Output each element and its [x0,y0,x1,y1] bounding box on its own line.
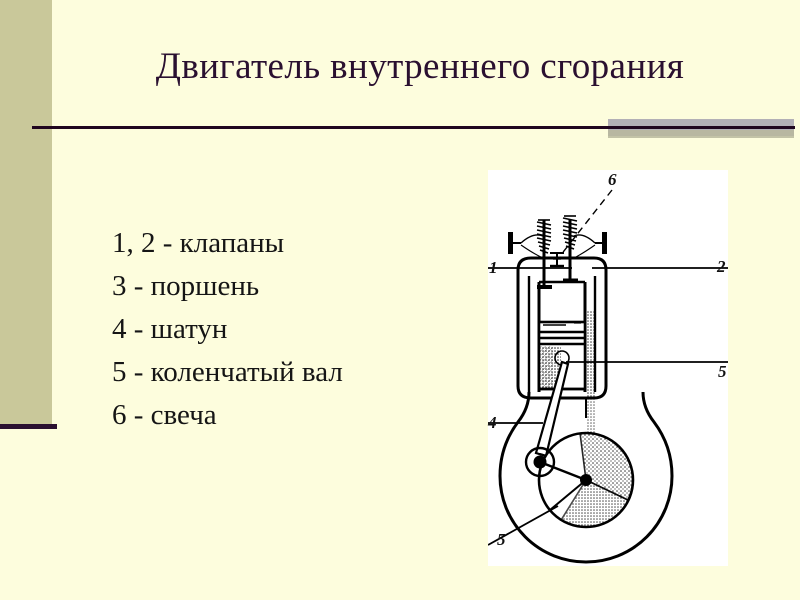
engine-diagram-panel [488,170,728,566]
callout-label-6: 6 [608,170,617,190]
slide-canvas: Двигатель внутреннего сгорания 1, 2 - кл… [0,0,800,600]
crankshaft [526,433,633,533]
valve-left [537,220,552,287]
valve-right [563,216,578,280]
callout-label-4: 4 [488,413,497,433]
callout-label-1: 1 [489,258,498,278]
engine-cross-section-drawing [488,170,728,566]
side-decoration-foot [0,424,57,429]
header-rule-accent-shadow [608,130,794,138]
legend-item-conrod: 4 - шатун [112,308,343,351]
legend-item-valves: 1, 2 - клапаны [112,222,343,265]
legend-item-piston: 3 - поршень [112,265,343,308]
page-title: Двигатель внутреннего сгорания [60,44,780,90]
rocker-right-group [574,232,607,258]
header-rule-line [32,126,795,129]
callout-label-5-crank: 5 [497,530,506,550]
side-decoration-band [0,0,52,428]
legend-item-crankshaft: 5 - коленчатый вал [112,351,343,394]
rocker-left-group [508,232,543,258]
legend-list: 1, 2 - клапаны 3 - поршень 4 - шатун 5 -… [112,222,343,437]
callout-label-2: 2 [717,257,726,277]
callout-label-5-piston: 5 [718,362,727,382]
legend-item-sparkplug: 6 - свеча [112,394,343,437]
